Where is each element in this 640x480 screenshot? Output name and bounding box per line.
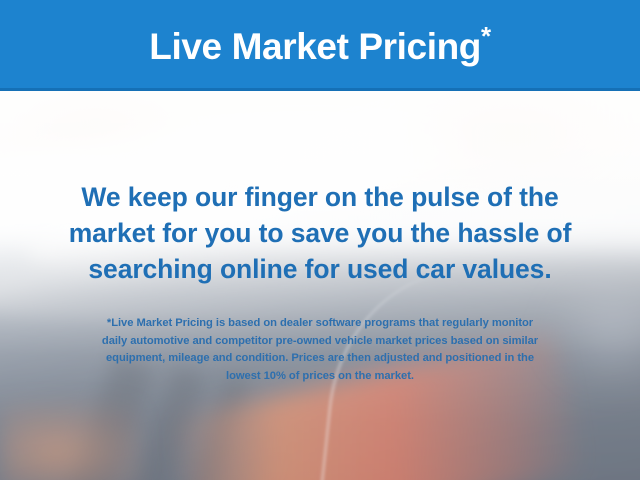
disclaimer-line-2: daily automotive and competitor pre-owne…: [14, 333, 626, 351]
headline-line-1: We keep our finger on the pulse of the: [16, 179, 624, 215]
headline-line-3: searching online for used car values.: [16, 251, 624, 287]
banner-title: Live Market Pricing*: [149, 23, 490, 65]
headline-block: We keep our finger on the pulse of the m…: [0, 179, 640, 287]
disclaimer-block: *Live Market Pricing is based on dealer …: [0, 315, 640, 385]
banner-title-asterisk: *: [481, 21, 491, 51]
banner-title-text: Live Market Pricing: [149, 26, 481, 67]
live-market-pricing-slide: Live Market Pricing* We keep our finger …: [0, 0, 640, 480]
slide-content: We keep our finger on the pulse of the m…: [0, 91, 640, 480]
disclaimer-line-3: equipment, mileage and condition. Prices…: [14, 350, 626, 368]
disclaimer-line-1: *Live Market Pricing is based on dealer …: [14, 315, 626, 333]
disclaimer-line-4: lowest 10% of prices on the market.: [14, 368, 626, 386]
headline-line-2: market for you to save you the hassle of: [16, 215, 624, 251]
header-banner: Live Market Pricing*: [0, 0, 640, 88]
header-banner-bottom-edge: [0, 88, 640, 91]
